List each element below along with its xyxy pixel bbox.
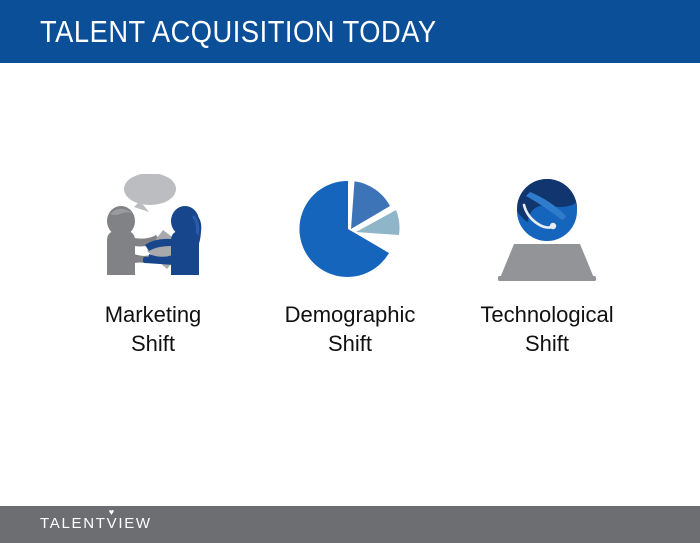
- logo-text-v: V: [107, 515, 119, 532]
- icon-box-marketing: [93, 170, 213, 288]
- column-label-marketing: Marketing Shift: [105, 300, 202, 358]
- page-title: TALENT ACQUISITION TODAY: [40, 13, 437, 51]
- logo-text-prefix: TALENT: [40, 515, 107, 532]
- icon-box-technological: [487, 170, 607, 288]
- column-technological-shift: Technological Shift: [454, 170, 640, 358]
- heart-icon: ♥: [109, 508, 116, 517]
- two-people-conversation-icon: [93, 174, 213, 284]
- column-marketing-shift: Marketing Shift: [60, 170, 246, 358]
- icon-box-demographic: [290, 170, 410, 288]
- talentview-logo: TALENT ♥ V IEW: [40, 515, 152, 532]
- slide-canvas: TALENT ACQUISITION TODAY: [0, 0, 700, 543]
- column-label-demographic: Demographic Shift: [285, 300, 416, 358]
- person-at-laptop-icon: [488, 174, 606, 284]
- footer-band: TALENT ♥ V IEW: [0, 506, 700, 543]
- column-label-technological: Technological Shift: [480, 300, 613, 358]
- logo-v-group: ♥ V: [107, 515, 119, 532]
- icon-columns-row: Marketing Shift Demographic Shift: [60, 170, 640, 370]
- column-demographic-shift: Demographic Shift: [257, 170, 443, 358]
- pie-chart-icon: [295, 174, 405, 284]
- logo-text-suffix: IEW: [118, 515, 151, 532]
